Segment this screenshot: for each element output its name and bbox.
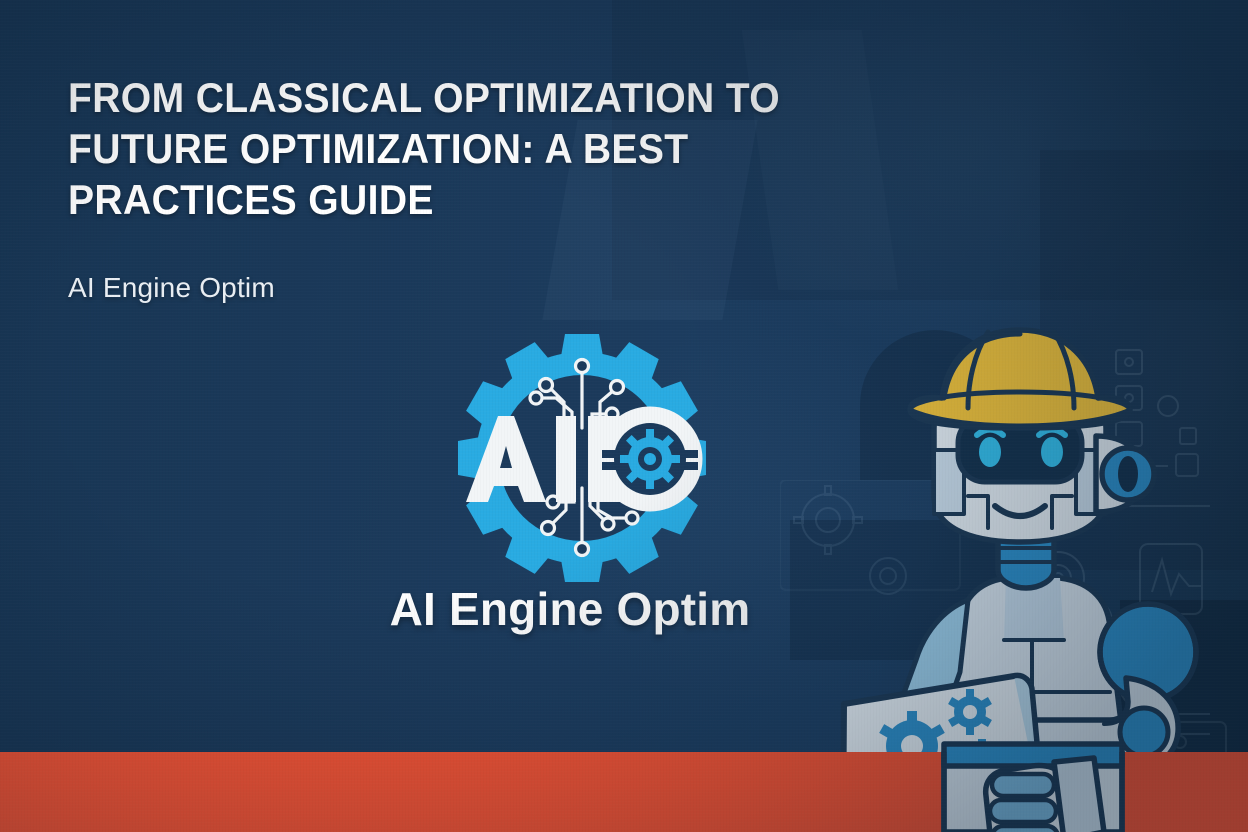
bottom-accent-bar [0, 752, 1248, 832]
logo-o-ring [602, 415, 698, 503]
presentation-slide: From Classical Optimization to Future Op… [0, 0, 1248, 832]
page-subtitle: AI Engine Optim [68, 272, 275, 304]
aieo-logo [452, 328, 712, 588]
page-title: From Classical Optimization to Future Op… [68, 72, 886, 226]
gear-circuit-logo-icon [452, 328, 712, 588]
small-gear-icon [620, 429, 680, 489]
